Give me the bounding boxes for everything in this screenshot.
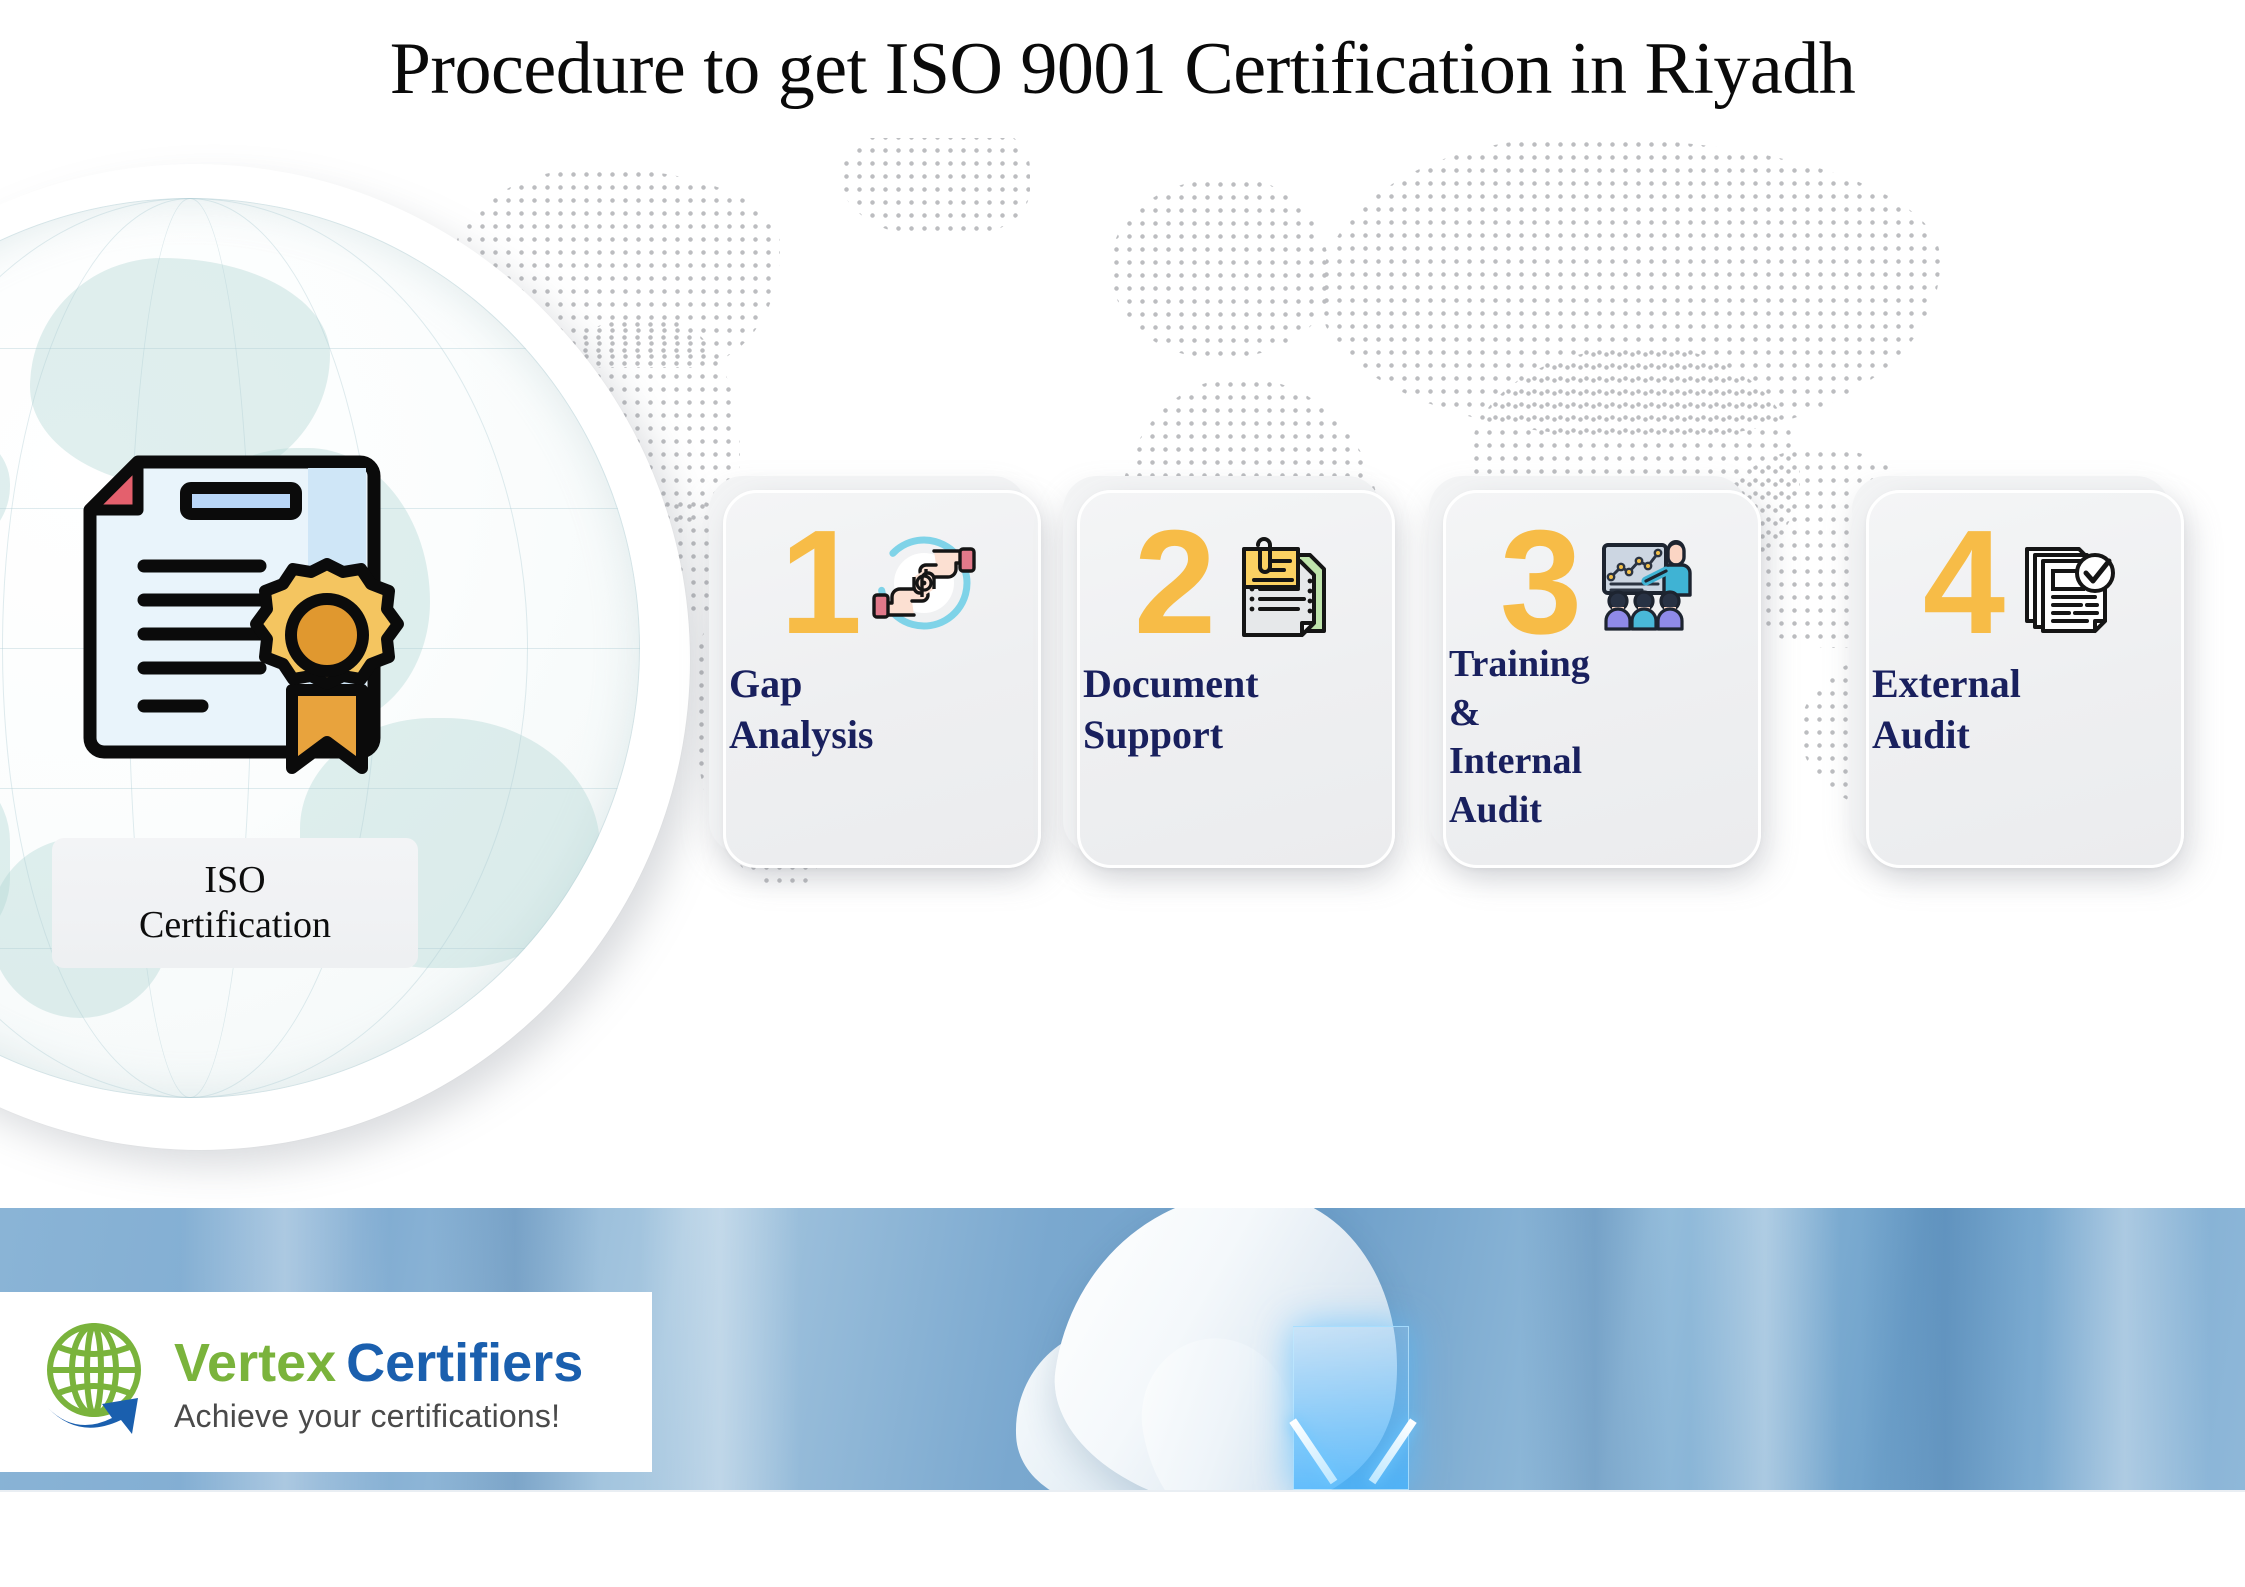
step-number: 3 bbox=[1500, 522, 1578, 643]
step-number: 4 bbox=[1923, 522, 2001, 643]
globe-arrow-logo-icon bbox=[36, 1316, 168, 1448]
page-title: Procedure to get ISO 9001 Certification … bbox=[390, 32, 1855, 106]
brand-word-certifiers: Certifiers bbox=[346, 1333, 583, 1393]
brand-name: VertexCertifiers bbox=[174, 1336, 583, 1390]
step-number: 1 bbox=[780, 522, 858, 643]
banner-hairline bbox=[0, 1490, 2245, 1492]
brand-tagline: Achieve your certifications! bbox=[174, 1398, 583, 1435]
infographic-page: Procedure to get ISO 9001 Certification … bbox=[0, 0, 2245, 1587]
card-header: 1 bbox=[723, 508, 1041, 658]
teamwork-handshake-icon bbox=[864, 523, 984, 643]
step-number: 2 bbox=[1134, 522, 1212, 643]
brand-text: VertexCertifiers Achieve your certificat… bbox=[174, 1330, 583, 1435]
title-bar: Procedure to get ISO 9001 Certification … bbox=[0, 0, 2245, 138]
brand-logo[interactable]: VertexCertifiers Achieve your certificat… bbox=[0, 1292, 652, 1472]
document-stack-check-icon bbox=[2007, 523, 2127, 643]
up-arrow-icon bbox=[1318, 1408, 1388, 1482]
steps-row: 1 bbox=[0, 138, 2245, 1203]
card-header: 3 bbox=[1443, 508, 1761, 658]
training-presentation-icon bbox=[1584, 523, 1704, 643]
main-stage: ISO Certification 1 bbox=[0, 138, 2245, 1203]
card-header: 2 bbox=[1077, 508, 1395, 658]
card-header: 4 bbox=[1866, 508, 2184, 658]
brand-word-vertex: Vertex bbox=[174, 1333, 336, 1393]
document-paperclip-icon bbox=[1218, 523, 1338, 643]
